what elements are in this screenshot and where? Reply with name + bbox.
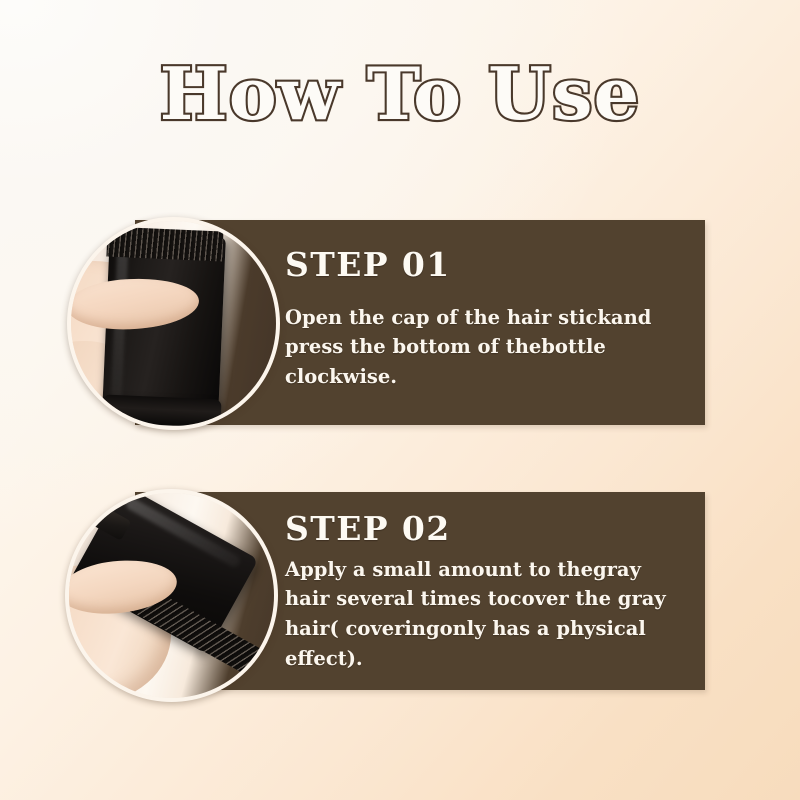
step-2-text-block: STEP 02 Apply a small amount to thegray … xyxy=(285,512,687,673)
step-2-photo xyxy=(65,489,278,702)
step-1-body: Open the cap of the hair stickand press … xyxy=(285,303,687,392)
step-2-body: Apply a small amount to thegray hair sev… xyxy=(285,555,687,674)
step-1-photo xyxy=(67,217,280,430)
stick-base-cap-icon xyxy=(102,394,221,426)
step-2-photo-inner xyxy=(69,493,274,698)
step-1-text-block: STEP 01 Open the cap of the hair stickan… xyxy=(285,248,687,392)
page-title-container: How To Use xyxy=(0,58,800,130)
step-2-heading: STEP 02 xyxy=(285,512,687,547)
step-1-heading: STEP 01 xyxy=(285,248,687,283)
comb-teeth-icon xyxy=(106,226,223,261)
how-to-use-infographic: How To Use STEP 01 Open the cap of the h… xyxy=(0,0,800,800)
page-title: How To Use xyxy=(160,58,641,130)
step-1-photo-inner xyxy=(71,221,276,426)
